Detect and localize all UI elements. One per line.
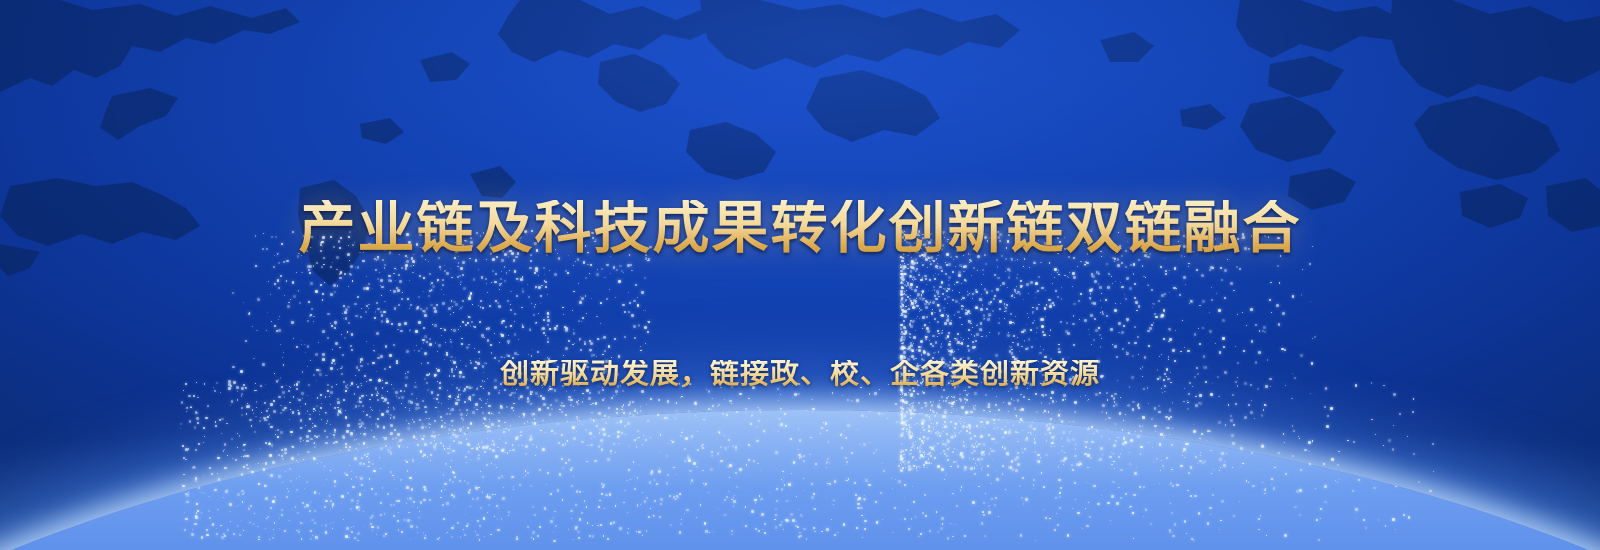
- world-map-silhouette: [0, 0, 1600, 550]
- sparkle-particle-field-right: [900, 230, 1320, 470]
- banner-title: 产业链及科技成果转化创新链双链融合: [0, 200, 1600, 257]
- background-haze: [0, 0, 1600, 550]
- horizon-wide-glow: [0, 0, 1600, 550]
- earth-horizon-arc: [0, 410, 1600, 550]
- sparkle-particle-field-bottom: [180, 380, 1440, 540]
- sparkle-particle-field-left: [230, 230, 650, 450]
- light-rays: [0, 0, 1600, 550]
- hero-banner: 产业链及科技成果转化创新链双链融合 创新驱动发展，链接政、校、企各类创新资源: [0, 0, 1600, 550]
- earth-horizon-glow: [0, 0, 1600, 550]
- banner-subtitle: 创新驱动发展，链接政、校、企各类创新资源: [0, 360, 1600, 389]
- background-gradient: [0, 0, 1600, 550]
